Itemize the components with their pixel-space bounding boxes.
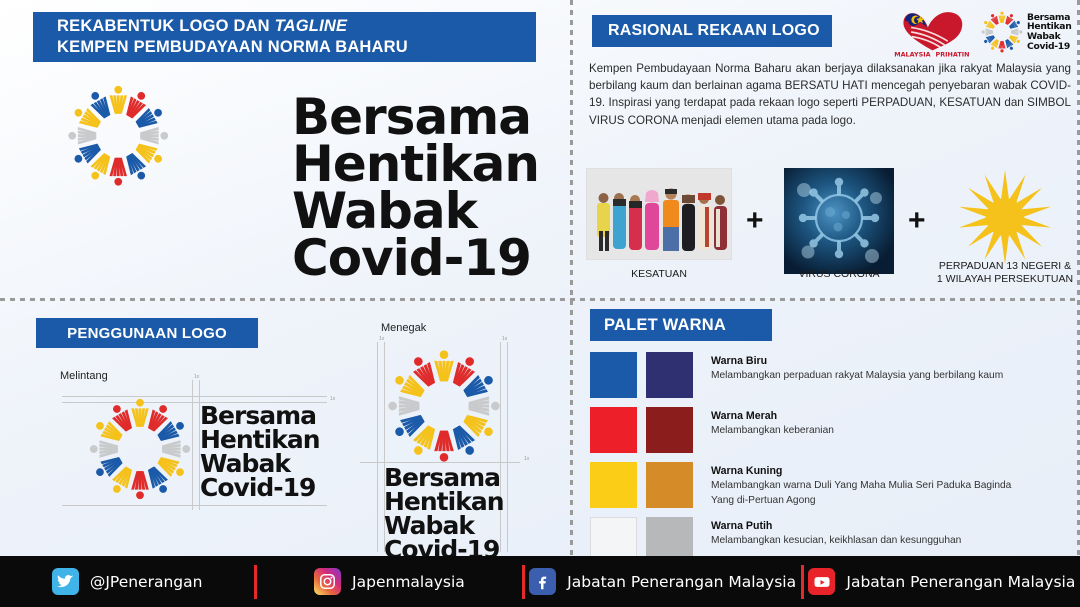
facebook-icon[interactable] (529, 568, 556, 595)
kesatuan-photo (586, 168, 732, 260)
palette-name: Warna Putih (711, 520, 961, 533)
footer-item-youtube[interactable]: Jabatan Penerangan Malaysia (804, 556, 1080, 607)
logo-figure (131, 471, 149, 499)
malaysia-prihatin-logo: MALAYSIA PRIHATIN (888, 6, 980, 58)
palette-text: Warna Kuning Melambangkan warna Duli Yan… (711, 462, 1011, 507)
palette-name: Warna Kuning (711, 465, 1011, 478)
logo-mini-svg (980, 10, 1024, 54)
melintang-label: Melintang (60, 370, 108, 382)
menegak-tick-1: 1x (379, 336, 384, 342)
instagram-icon[interactable] (314, 568, 341, 595)
main-title-line2: KEMPEN PEMBUDAYAAN NORMA BAHARU (57, 38, 408, 56)
rasional-paragraph: Kempen Pembudayaan Norma Baharu akan ber… (589, 60, 1071, 129)
logo-figure (388, 396, 419, 416)
logo-figure (1011, 28, 1022, 35)
logo-figure (131, 399, 149, 427)
plus-operator-2: + (908, 204, 926, 238)
melintang-logo-svg (85, 395, 195, 503)
campaign-logo-mark (62, 82, 282, 297)
perpaduan-star-item: PERPADUAN 13 NEGERI & 1 WILAYAH PERSEKUT… (942, 168, 1068, 277)
virus-corona-caption: VIRUS CORONA (784, 268, 894, 281)
logo-figure (434, 350, 454, 381)
svg-text:PRIHATIN: PRIHATIN (936, 50, 970, 58)
penggunaan-heading-bar: PENGGUNAAN LOGO (36, 318, 258, 348)
palette-text: Warna Biru Melambangkan perpaduan rakyat… (711, 352, 1003, 384)
palette-text: Warna Merah Melambangkan keberanian (711, 407, 834, 439)
rationale-triptych: KESATUAN + (586, 168, 1076, 286)
kesatuan-caption: KESATUAN (586, 268, 732, 281)
footer-label-facebook: Jabatan Penerangan Malaysia (567, 573, 796, 591)
wordmark-line-1: Bersama (292, 94, 539, 141)
melintang-logo-mark (85, 395, 195, 503)
melintang-tick-1: 1x (194, 374, 199, 380)
palette-row: Warna Merah Melambangkan keberanian (590, 407, 1060, 453)
footer-item-facebook[interactable]: Jabatan Penerangan Malaysia (525, 556, 801, 607)
logo-figure (162, 440, 190, 458)
melintang-tick-2: 1x (330, 396, 335, 402)
virus-corona-item: VIRUS CORONA (784, 168, 894, 274)
social-footer: @JPenerangan Japenmalaysia Jabatan Pener… (0, 556, 1080, 607)
palette-desc: Melambangkan warna Duli Yang Maha Mulia … (711, 479, 1011, 493)
swatch-primary (590, 352, 637, 398)
campaign-wordmark: Bersama Hentikan Wabak Covid-19 (292, 94, 539, 282)
palette-desc2: Yang di-Pertuan Agong (711, 494, 1011, 508)
logo-figure (109, 86, 127, 114)
logo-figure (469, 396, 500, 416)
vertical-divider (570, 0, 573, 556)
infographic-page: REKABENTUK LOGO DAN TAGLINE KEMPEN PEMBU… (0, 0, 1080, 607)
logo-figure (68, 127, 96, 145)
melintang-guide-bottom (62, 505, 327, 506)
melintang-wordmark: Bersama Hentikan Wabak Covid-19 (200, 404, 320, 500)
footer-label-youtube: Jabatan Penerangan Malaysia (846, 573, 1075, 591)
palette-name: Warna Biru (711, 355, 1003, 368)
main-title-line1: REKABENTUK LOGO DAN TAGLINE (57, 17, 347, 35)
prihatin-label: MALAYSIA (894, 50, 930, 58)
menegak-logo-svg (383, 346, 505, 466)
plus-operator-1: + (746, 204, 764, 238)
palette-name: Warna Merah (711, 410, 834, 423)
palette-desc: Melambangkan perpaduan rakyat Malaysia y… (711, 369, 1003, 383)
footer-item-twitter[interactable]: @JPenerangan (0, 556, 254, 607)
logo-figure (998, 41, 1005, 52)
wordmark-line-2: Hentikan (292, 141, 539, 188)
palette-text: Warna Putih Melambangkan kesucian, keikh… (711, 517, 961, 549)
logo-svg (62, 82, 282, 297)
swatch-primary (590, 407, 637, 453)
virus-corona-image (784, 168, 894, 274)
menegak-tick-2: 1x (502, 336, 507, 342)
wordmark-line-4: Covid-19 (292, 235, 539, 282)
logo-figure (90, 440, 118, 458)
youtube-icon[interactable] (808, 568, 835, 595)
palet-heading: PALET WARNA (604, 316, 726, 335)
logo-figure (140, 127, 168, 145)
logo-figure (109, 158, 127, 186)
campaign-wordmark-mini: Bersama Hentikan Wabak Covid-19 (1027, 13, 1071, 51)
horizontal-divider (0, 298, 1080, 301)
menegak-label: Menegak (381, 322, 426, 334)
logo-figure (434, 431, 454, 462)
campaign-logo-mini: Bersama Hentikan Wabak Covid-19 (980, 6, 1076, 58)
prihatin-svg: MALAYSIA PRIHATIN (888, 6, 980, 58)
perpaduan-caption-line2: 1 WILAYAH PERSEKUTUAN (932, 273, 1078, 286)
swatch-secondary (646, 462, 693, 508)
footer-item-instagram[interactable]: Japenmalaysia (257, 556, 521, 607)
palette-row: Warna Kuning Melambangkan warna Duli Yan… (590, 462, 1060, 508)
swatch-secondary (646, 352, 693, 398)
footer-label-twitter: @JPenerangan (90, 573, 203, 591)
color-palette-list: Warna Biru Melambangkan perpaduan rakyat… (590, 352, 1060, 572)
palette-desc: Melambangkan keberanian (711, 424, 834, 438)
kesatuan-item: KESATUAN (586, 168, 732, 260)
menegak-guide-v4 (507, 342, 508, 552)
perpaduan-caption-line1: PERPADUAN 13 NEGERI & (932, 260, 1078, 273)
logo-figure (998, 12, 1005, 23)
footer-label-instagram: Japenmalaysia (352, 573, 465, 591)
menegak-wordmark: Bersama Hentikan Wabak Covid-19 (384, 466, 504, 562)
swatch-primary (590, 462, 637, 508)
main-title-bar: REKABENTUK LOGO DAN TAGLINE KEMPEN PEMBU… (33, 12, 536, 62)
palet-heading-bar: PALET WARNA (590, 309, 772, 341)
penggunaan-heading: PENGGUNAAN LOGO (67, 325, 227, 342)
rasional-heading-bar: RASIONAL REKAAN LOGO (592, 15, 832, 47)
twitter-icon[interactable] (52, 568, 79, 595)
palette-row: Warna Biru Melambangkan perpaduan rakyat… (590, 352, 1060, 398)
menegak-logo-mark (383, 346, 505, 466)
logo-figure (982, 28, 993, 35)
wordmark-line-3: Wabak (292, 188, 539, 235)
rasional-heading: RASIONAL REKAAN LOGO (608, 22, 820, 40)
virus-svg (784, 168, 894, 274)
perpaduan-caption: PERPADUAN 13 NEGERI & 1 WILAYAH PERSEKUT… (932, 260, 1078, 285)
main-title-tagline: TAGLINE (275, 17, 348, 35)
menegak-tick-3: 1x (524, 456, 529, 462)
melintang-word-4: Covid-19 (200, 476, 320, 500)
star-14-point-icon (942, 168, 1068, 272)
palette-desc: Melambangkan kesucian, keikhlasan dan ke… (711, 534, 961, 548)
wordmark-mini-4: Covid-19 (1027, 42, 1071, 52)
swatch-secondary (646, 407, 693, 453)
kesatuan-photo-svg (587, 169, 732, 260)
menegak-guide-v1 (377, 342, 378, 552)
